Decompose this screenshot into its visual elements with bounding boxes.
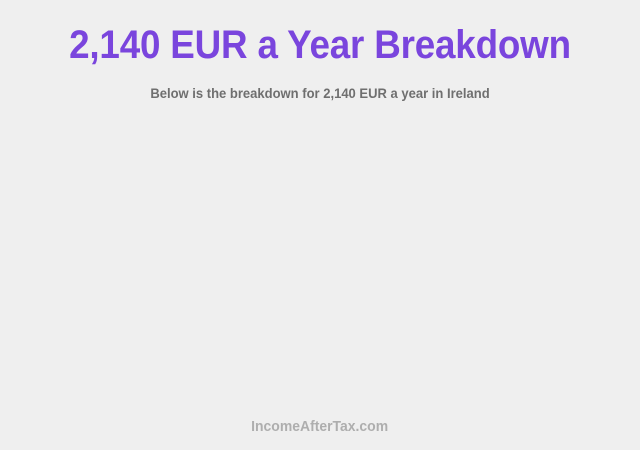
page-title: 2,140 EUR a Year Breakdown	[26, 22, 615, 68]
footer-brand-label: IncomeAfterTax.com	[252, 418, 389, 436]
site-footer: IncomeAfterTax.com	[0, 418, 640, 436]
page-subtitle: Below is the breakdown for 2,140 EUR a y…	[22, 84, 617, 102]
page-root: 2,140 EUR a Year Breakdown Below is the …	[0, 0, 640, 450]
content-area	[0, 120, 640, 410]
